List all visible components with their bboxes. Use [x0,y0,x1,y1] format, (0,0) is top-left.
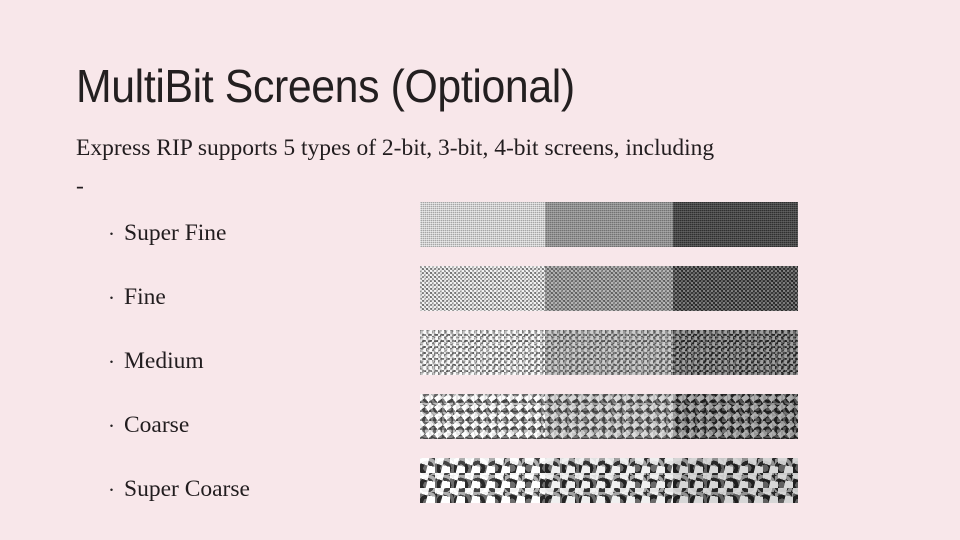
tone-band-mid [545,458,673,503]
dither-texture [545,266,673,311]
slide-canvas: MultiBit Screens (Optional) Express RIP … [0,0,960,540]
list-item-label: Fine [124,286,166,310]
list-item: · Super Coarse [108,458,408,522]
tone-band-dark [673,458,798,503]
tone-band-dark [673,266,798,311]
dither-texture [545,394,673,439]
bullet-dot-icon: · [108,224,124,245]
dither-texture [545,458,673,503]
tone-band-light [420,330,545,375]
list-item: · Fine [108,266,408,330]
dither-texture [420,330,545,375]
dither-texture [420,394,545,439]
screen-sample-stack [420,202,798,503]
list-item-label: Super Coarse [124,478,250,502]
tone-band-dark [673,330,798,375]
dither-texture [673,266,798,311]
dither-texture [673,330,798,375]
screen-sample-medium [420,330,798,375]
tone-band-light [420,458,545,503]
dither-texture [420,458,545,503]
tone-band-mid [545,330,673,375]
screen-type-list: · Super Fine · Fine · Medium · Coarse · … [108,202,408,522]
tone-band-dark [673,202,798,247]
screen-sample-super-fine [420,202,798,247]
dither-texture [545,202,673,247]
list-item: · Coarse [108,394,408,458]
bullet-dot-icon: · [108,416,124,437]
tone-band-light [420,202,545,247]
tone-band-light [420,394,545,439]
screen-sample-coarse [420,394,798,439]
list-item-label: Medium [124,350,204,374]
dither-texture [420,266,545,311]
tone-band-mid [545,266,673,311]
tone-band-dark [673,394,798,439]
bullet-dot-icon: · [108,352,124,373]
intro-paragraph: Express RIP supports 5 types of 2-bit, 3… [76,129,716,205]
list-item: · Medium [108,330,408,394]
tone-band-mid [545,202,673,247]
dither-texture [545,330,673,375]
list-item-label: Super Fine [124,222,226,246]
dither-texture [673,394,798,439]
dither-texture [420,202,545,247]
tone-band-light [420,266,545,311]
list-item-label: Coarse [124,414,189,438]
screen-sample-super-coarse [420,458,798,503]
tone-band-mid [545,394,673,439]
dither-texture [673,458,798,503]
list-item: · Super Fine [108,202,408,266]
screen-sample-fine [420,266,798,311]
bullet-dot-icon: · [108,480,124,501]
bullet-dot-icon: · [108,288,124,309]
dither-texture [673,202,798,247]
page-title: MultiBit Screens (Optional) [76,57,575,115]
